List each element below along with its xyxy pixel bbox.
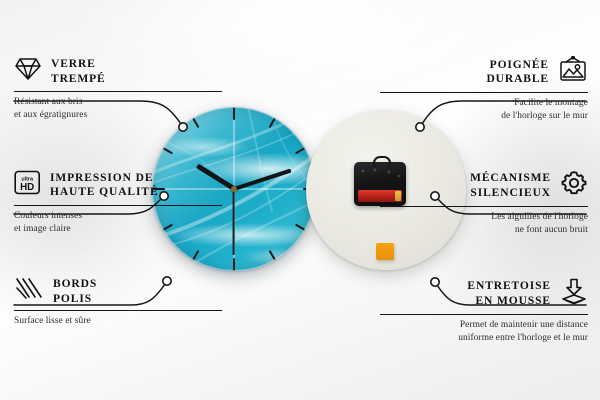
gear-icon — [560, 169, 588, 202]
infographic-canvas: VERRE TREMPÉ Résistant aux bris et aux é… — [0, 0, 600, 400]
title-rule — [380, 206, 588, 207]
foam-spacer — [376, 243, 394, 260]
feature-title: POIGNÉE DURABLE — [486, 58, 549, 86]
feature-mecanisme-silencieux[interactable]: MÉCANISME SILENCIEUX Les aiguilles de l'… — [380, 169, 588, 236]
title-rule — [14, 205, 222, 206]
feature-header: ultra HD IMPRESSION DE HAUTE QUALITÉ — [14, 169, 222, 201]
feature-header: POIGNÉE DURABLE — [380, 56, 588, 88]
title-rule — [380, 92, 588, 93]
hanger-loop-icon — [373, 156, 391, 167]
polished-edges-icon — [14, 277, 44, 306]
feature-title: IMPRESSION DE HAUTE QUALITÉ — [50, 171, 159, 199]
title-rule — [14, 91, 222, 92]
feature-subtitle: Couleurs intenses et image claire — [14, 210, 222, 235]
feature-entretoise-en-mousse[interactable]: ENTRETOISE EN MOUSSE Permet de maintenir… — [380, 277, 588, 344]
feature-title: VERRE TREMPÉ — [51, 57, 106, 85]
feature-subtitle: Facilite le montage de l'horloge sur le … — [380, 97, 588, 122]
feature-title: BORDS POLIS — [53, 277, 97, 305]
hanging-frame-icon — [558, 56, 588, 88]
svg-text:HD: HD — [20, 182, 34, 193]
feature-subtitle: Permet de maintenir une distance uniform… — [380, 319, 588, 344]
feature-header: BORDS POLIS — [14, 277, 222, 306]
feature-verre-trempe[interactable]: VERRE TREMPÉ Résistant aux bris et aux é… — [14, 56, 222, 121]
feature-subtitle: Résistant aux bris et aux égratignures — [14, 96, 222, 121]
feature-header: VERRE TREMPÉ — [14, 56, 222, 87]
feature-title: MÉCANISME SILENCIEUX — [470, 171, 551, 199]
foam-spacer-icon — [560, 277, 588, 310]
feature-subtitle: Surface lisse et sûre — [14, 315, 222, 328]
title-rule — [380, 314, 588, 315]
title-rule — [14, 310, 222, 311]
feature-poignee-durable[interactable]: POIGNÉE DURABLE Facilite le montage de — [380, 56, 588, 122]
feature-subtitle: Les aiguilles de l'horloge ne font aucun… — [380, 211, 588, 236]
feature-bords-polis[interactable]: BORDS POLIS Surface lisse et sûre — [14, 277, 222, 328]
ultra-hd-icon: ultra HD — [14, 169, 41, 201]
feature-header: MÉCANISME SILENCIEUX — [380, 169, 588, 202]
diamond-icon — [14, 56, 42, 87]
feature-title: ENTRETOISE EN MOUSSE — [467, 279, 551, 307]
feature-impression-haute-qualite[interactable]: ultra HD IMPRESSION DE HAUTE QUALITÉ Cou… — [14, 169, 222, 235]
feature-header: ENTRETOISE EN MOUSSE — [380, 277, 588, 310]
